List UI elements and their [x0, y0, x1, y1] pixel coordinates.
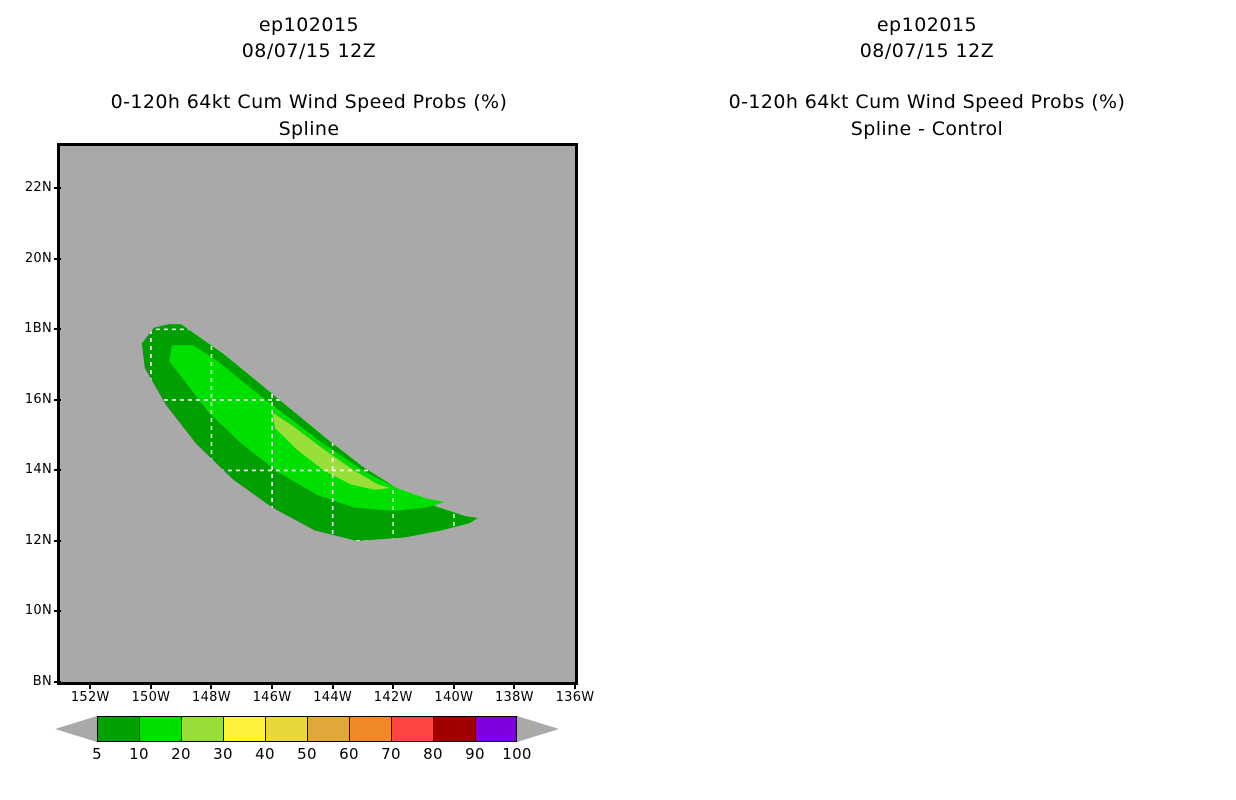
- colorbar-block[interactable]: [223, 716, 265, 742]
- y-tick-mark: [54, 258, 61, 260]
- contour-bands: [142, 324, 478, 541]
- y-tick-label: 10N: [6, 603, 52, 618]
- y-tick-label: 14N: [6, 462, 52, 477]
- y-tick-mark: [54, 540, 61, 542]
- y-tick-label: 20N: [6, 251, 52, 266]
- colorbar-tick-label: 10: [115, 745, 163, 763]
- colorbar-tick-label: 90: [451, 745, 499, 763]
- y-tick-label: 16N: [6, 392, 52, 407]
- colorbar-block[interactable]: [265, 716, 307, 742]
- y-tick-mark: [54, 399, 61, 401]
- storm-datetime-right: 08/07/15 12Z: [618, 40, 1236, 62]
- storm-datetime-left: 08/07/15 12Z: [0, 40, 618, 62]
- chart-subtitle-left: Spline: [0, 118, 618, 140]
- colorbar-tick-label: 5: [73, 745, 121, 763]
- y-tick-label: 22N: [6, 180, 52, 195]
- chart-title-right: 0-120h 64kt Cum Wind Speed Probs (%): [618, 91, 1236, 113]
- y-tick-label: 12N: [6, 533, 52, 548]
- y-tick-mark: [54, 187, 61, 189]
- colorbar-tick-label: 20: [157, 745, 205, 763]
- colorbar-block[interactable]: [181, 716, 223, 742]
- gridlines-left: [60, 146, 575, 682]
- y-tick-mark: [54, 610, 61, 612]
- colorbar-tick-label: 70: [367, 745, 415, 763]
- colorbar-block[interactable]: [139, 716, 181, 742]
- y-tick-label: 1BN: [6, 321, 52, 336]
- colorbar-tick-label: 40: [241, 745, 289, 763]
- x-tick-label: 152W: [61, 690, 119, 705]
- colorbar-blocks[interactable]: [97, 716, 517, 742]
- x-tick-label: 138W: [485, 690, 543, 705]
- map-plot-spline[interactable]: [57, 143, 578, 685]
- x-tick-mark: [332, 682, 334, 689]
- x-tick-label: 140W: [425, 690, 483, 705]
- storm-id-right: ep102015: [618, 14, 1236, 36]
- x-tick-mark: [513, 682, 515, 689]
- x-tick-mark: [392, 682, 394, 689]
- x-tick-label: 146W: [243, 690, 301, 705]
- colorbar-tick-label: 30: [199, 745, 247, 763]
- x-tick-label: 136W: [546, 690, 604, 705]
- colorbar-left-cap: [55, 716, 97, 742]
- x-tick-mark: [453, 682, 455, 689]
- y-tick-mark: [54, 469, 61, 471]
- colorbar-probability[interactable]: 5102030405060708090100: [55, 716, 555, 786]
- x-tick-mark: [150, 682, 152, 689]
- storm-id-left: ep102015: [0, 14, 618, 36]
- x-tick-mark: [210, 682, 212, 689]
- colorbar-block[interactable]: [433, 716, 475, 742]
- colorbar-tick-label: 50: [283, 745, 331, 763]
- colorbar-tick-label: 60: [325, 745, 373, 763]
- x-tick-mark: [271, 682, 273, 689]
- x-tick-label: 142W: [364, 690, 422, 705]
- colorbar-tick-label: 100: [493, 745, 541, 763]
- x-tick-label: 148W: [182, 690, 240, 705]
- contour-surface: [60, 146, 575, 682]
- y-tick-mark: [54, 681, 61, 683]
- x-tick-label: 144W: [304, 690, 362, 705]
- chart-title-left: 0-120h 64kt Cum Wind Speed Probs (%): [0, 91, 618, 113]
- colorbar-block[interactable]: [307, 716, 349, 742]
- panel-spline-minus-control: ep102015 08/07/15 12Z 0-120h 64kt Cum Wi…: [618, 0, 1236, 800]
- y-tick-label: BN: [6, 674, 52, 689]
- colorbar-block[interactable]: [391, 716, 433, 742]
- panel-spline: ep102015 08/07/15 12Z 0-120h 64kt Cum Wi…: [0, 0, 618, 800]
- colorbar-tick-label: 80: [409, 745, 457, 763]
- colorbar-block[interactable]: [475, 716, 517, 742]
- y-tick-mark: [54, 328, 61, 330]
- colorbar-right-cap: [517, 716, 559, 742]
- x-tick-mark: [574, 682, 576, 689]
- x-tick-mark: [89, 682, 91, 689]
- colorbar-block[interactable]: [97, 716, 139, 742]
- chart-subtitle-right: Spline - Control: [618, 118, 1236, 140]
- colorbar-block[interactable]: [349, 716, 391, 742]
- x-tick-label: 150W: [122, 690, 180, 705]
